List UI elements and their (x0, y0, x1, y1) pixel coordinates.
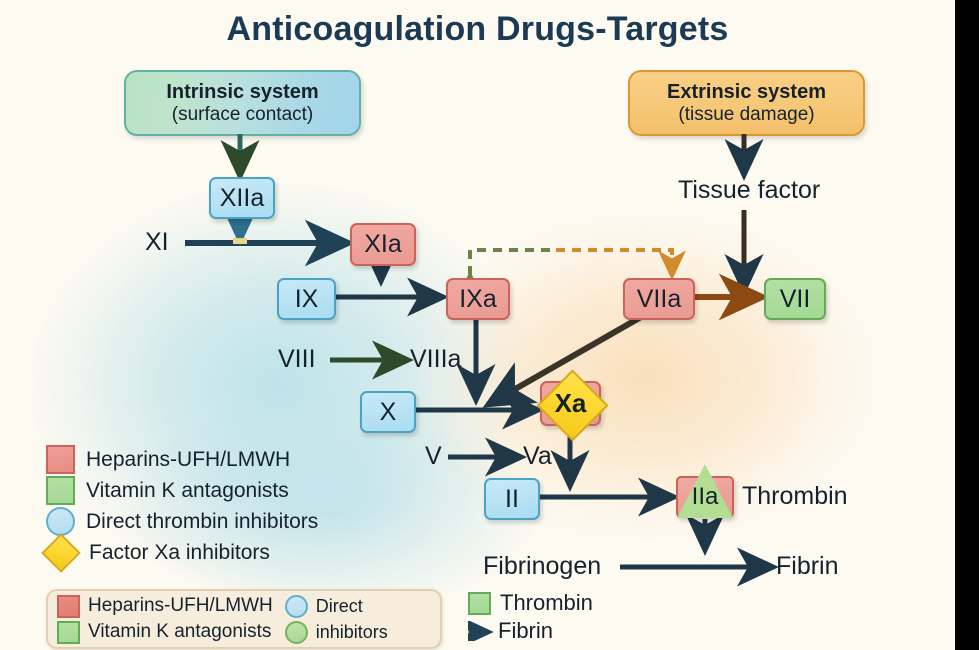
node-va: Va (523, 442, 552, 471)
legend-right: Thrombin Fibrin (468, 590, 593, 644)
page-title: Anticoagulation Drugs-Targets (0, 10, 955, 49)
node-iia-label: IIa (676, 476, 734, 518)
node-thrombin-label: Thrombin (742, 482, 848, 511)
legend-item-label: Heparins-UFH/LMWH (88, 595, 273, 617)
legend-main: Heparins-UFH/LMWH Vitamin K antagonists … (46, 444, 376, 568)
extrinsic-system-title: Extrinsic system (667, 81, 826, 103)
node-v: V (425, 442, 442, 471)
legend-item-label: Vitamin K antagonists (88, 621, 271, 643)
legend-item-label: Thrombin (500, 590, 593, 616)
legend-card-item-heparins: Heparins-UFH/LMWH (57, 593, 273, 619)
legend-item-label: Heparins-UFH/LMWH (86, 448, 290, 472)
node-tissue-factor: Tissue factor (678, 176, 820, 205)
node-xi: XI (145, 228, 169, 257)
vitamin-k-swatch-icon (46, 476, 75, 505)
intrinsic-system-box: Intrinsic system (surface contact) (124, 70, 361, 136)
legend-card-column-b: Direct inhibitors (285, 593, 388, 645)
legend-item-label: Factor Xa inhibitors (89, 541, 270, 565)
legend-item-factor-xa: Factor Xa inhibitors (46, 537, 376, 568)
extrinsic-system-subtitle: (tissue damage) (678, 104, 814, 125)
node-ii: II (484, 478, 540, 520)
node-xa-label: Xa (540, 381, 601, 426)
direct-thrombin-circle-icon (46, 507, 75, 536)
thrombin-swatch-icon (468, 592, 491, 615)
legend-item-label: Direct (316, 596, 363, 617)
extrinsic-system-box: Extrinsic system (tissue damage) (628, 70, 865, 136)
node-viiia: VIIIa (410, 345, 461, 374)
node-viia: VIIa (623, 278, 695, 320)
legend-card-item-vitamin-k: Vitamin K antagonists (57, 619, 273, 645)
diagram-page: Anticoagulation Drugs-Targets Intrinsic … (0, 0, 955, 650)
legend-item-label: Direct thrombin inhibitors (86, 510, 318, 534)
legend-item-label: Vitamin K antagonists (86, 479, 289, 503)
legend-card-item-direct: Direct (285, 593, 388, 619)
legend-right-item-fibrin: Fibrin (468, 618, 593, 644)
node-viii: VIII (278, 345, 316, 374)
legend-item-heparins: Heparins-UFH/LMWH (46, 444, 376, 475)
factor-xa-diamond-icon (41, 533, 81, 573)
legend-card-item-inhibitors: inhibitors (285, 619, 388, 645)
legend-item-direct-thrombin: Direct thrombin inhibitors (46, 506, 376, 537)
legend-item-vitamin-k: Vitamin K antagonists (46, 475, 376, 506)
diagram-canvas: Anticoagulation Drugs-Targets Intrinsic … (0, 0, 979, 650)
node-x: X (360, 391, 416, 433)
node-fibrinogen: Fibrinogen (483, 552, 601, 581)
legend-card: Heparins-UFH/LMWH Vitamin K antagonists … (46, 589, 442, 649)
node-ixa: IXa (446, 278, 510, 320)
inhibitors-circle-green-icon (285, 621, 308, 644)
legend-card-column-a: Heparins-UFH/LMWH Vitamin K antagonists (57, 593, 273, 645)
heparins-swatch-icon (57, 595, 80, 618)
vitamin-k-swatch-icon (57, 621, 80, 644)
legend-item-label: Fibrin (498, 618, 553, 644)
heparins-swatch-icon (46, 445, 75, 474)
intrinsic-system-subtitle: (surface contact) (172, 104, 314, 125)
direct-circle-blue-icon (285, 595, 308, 618)
node-xia: XIa (350, 223, 416, 266)
legend-item-label: inhibitors (316, 622, 388, 643)
node-ix: IX (277, 278, 336, 320)
node-fibrin: Fibrin (776, 552, 839, 581)
legend-right-item-thrombin: Thrombin (468, 590, 593, 616)
node-vii: VII (764, 278, 826, 320)
node-iia: IIa (676, 476, 734, 518)
intrinsic-system-title: Intrinsic system (166, 81, 318, 103)
fibrin-arrow-icon (468, 621, 496, 641)
extrinsic-background-wash (390, 215, 900, 575)
node-xiia: XIIa (209, 177, 275, 219)
node-xa: Xa (540, 381, 601, 426)
